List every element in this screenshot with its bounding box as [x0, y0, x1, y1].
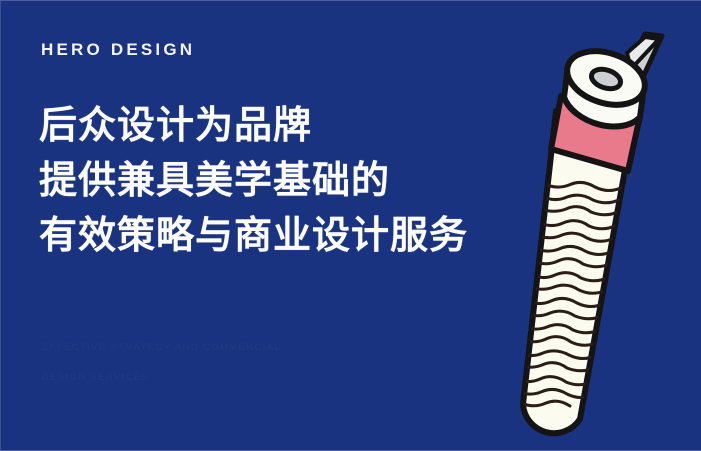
craft-knife-illustration: [456, 1, 701, 451]
subcaption-line-1: EFFECTIVE STRATEGY AND COMMERCIAL: [42, 333, 342, 363]
subcaption-block: EFFECTIVE STRATEGY AND COMMERCIAL DESIGN…: [42, 333, 342, 393]
subcaption-line-2: DESIGN SERVICES: [42, 363, 342, 393]
craft-knife-svg: [456, 1, 701, 451]
poster-canvas: HERO DESIGN 后众设计为品牌 提供兼具美学基础的 有效策略与商业设计服…: [0, 0, 701, 451]
brand-kicker: HERO DESIGN: [41, 41, 195, 58]
